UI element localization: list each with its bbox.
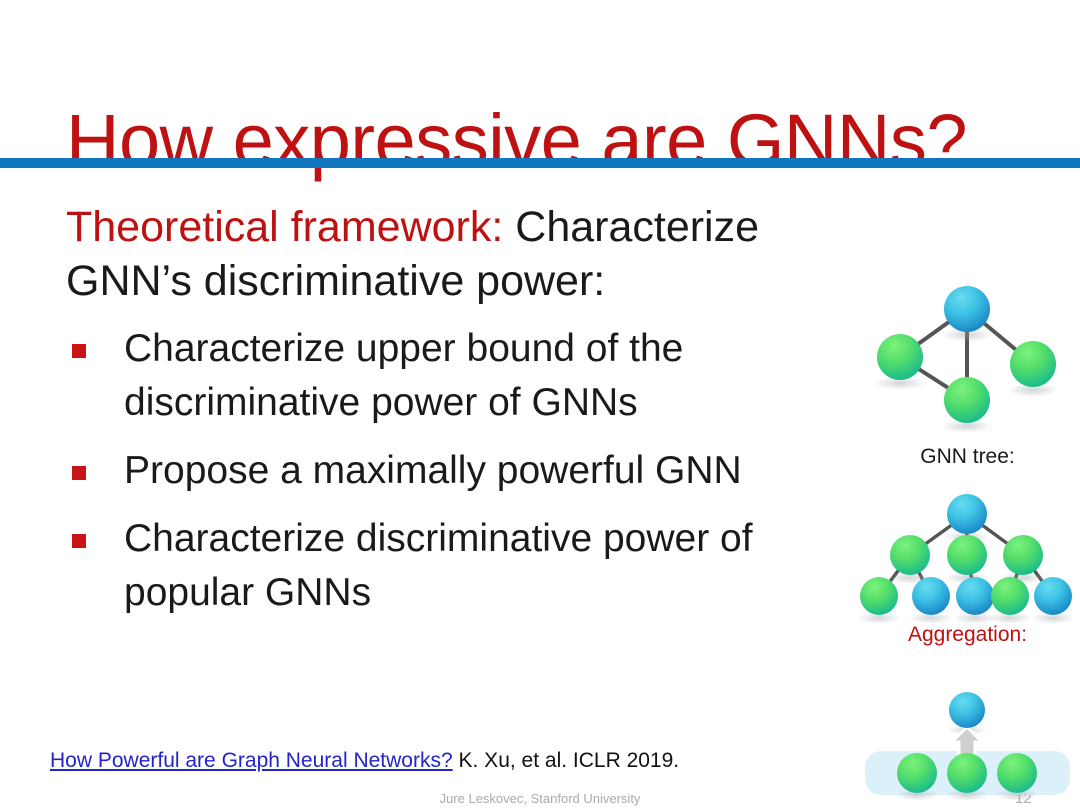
- paper-link[interactable]: How Powerful are Graph Neural Networks?: [50, 749, 453, 772]
- tree-root-node-blue: [947, 494, 987, 534]
- multiset-node-green: [947, 753, 987, 793]
- gnn-tree-figure: GNN tree:: [855, 444, 1080, 604]
- figure-column: GNN tree:: [855, 272, 1080, 810]
- lead-accent-phrase: Theoretical framework:: [66, 203, 503, 251]
- page-title: How expressive are GNNs?: [66, 98, 1026, 184]
- list-item-label: Characterize upper bound of the discrimi…: [124, 327, 683, 424]
- aggregation-svg: [855, 648, 1080, 808]
- title-divider-rule: [0, 158, 1080, 168]
- aggregation-output-node-blue: [949, 692, 985, 728]
- body-content: Theoretical framework: Characterize GNN’…: [66, 200, 866, 634]
- list-item-label: Characterize discriminative power of pop…: [124, 517, 753, 614]
- graph-node-green: [1010, 341, 1056, 387]
- tree-leaf-node-blue: [912, 577, 950, 615]
- multiset-node-green: [897, 753, 937, 793]
- citation-authors-venue: K. Xu, et al. ICLR 2019.: [453, 749, 679, 772]
- square-bullet-icon: [72, 344, 86, 358]
- list-item-label: Propose a maximally powerful GNN: [124, 449, 742, 492]
- graph-node-blue: [944, 286, 990, 332]
- square-bullet-icon: [72, 534, 86, 548]
- tree-leaf-node-blue: [956, 577, 994, 615]
- gnn-tree-label: GNN tree:: [855, 444, 1080, 470]
- gnn-tree-svg: [855, 468, 1080, 628]
- slide-canvas: How expressive are GNNs? Theoretical fra…: [0, 0, 1080, 810]
- aggregation-figure: Aggregation: Multiset X: [855, 622, 1080, 810]
- lead-paragraph: Theoretical framework: Characterize GNN’…: [66, 200, 866, 308]
- bullet-list: Characterize upper bound of the discrimi…: [66, 322, 866, 620]
- tree-leaf-node-green: [991, 577, 1029, 615]
- example-graph-svg: [855, 272, 1080, 432]
- tree-child-node-green: [890, 535, 930, 575]
- tree-child-node-green: [947, 535, 987, 575]
- tree-leaf-node-green: [860, 577, 898, 615]
- graph-node-green: [877, 334, 923, 380]
- multiset-node-green: [997, 753, 1037, 793]
- example-graph-figure: [855, 272, 1080, 432]
- tree-leaf-node-blue: [1034, 577, 1072, 615]
- tree-child-node-green: [1003, 535, 1043, 575]
- list-item: Characterize discriminative power of pop…: [66, 512, 866, 620]
- square-bullet-icon: [72, 466, 86, 480]
- list-item: Propose a maximally powerful GNN: [66, 444, 866, 498]
- list-item: Characterize upper bound of the discrimi…: [66, 322, 866, 430]
- aggregation-label: Aggregation:: [855, 622, 1080, 648]
- graph-node-green: [944, 377, 990, 423]
- citation-line: How Powerful are Graph Neural Networks? …: [50, 748, 679, 774]
